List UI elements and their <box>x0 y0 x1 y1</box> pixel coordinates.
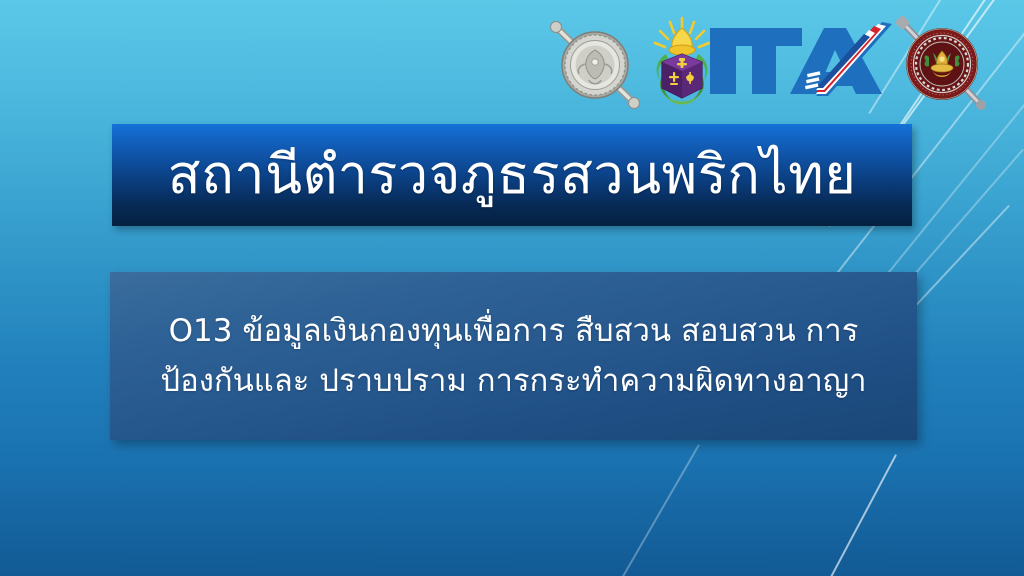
subtitle-line-2: ป้องกันและ ปราบปราม การกระทำความผิดทางอา… <box>160 356 866 406</box>
emblem-row <box>0 0 1024 124</box>
page-title: สถานีตำรวจภูธรสวนพริกไทย <box>168 147 857 204</box>
slide-title-plate: สถานีตำรวจภูธรสวนพริกไทย <box>112 124 912 226</box>
presentation-slide: สถานีตำรวจภูธรสวนพริกไทย O13 ข้อมูลเงินก… <box>0 0 1024 576</box>
streak-line <box>825 454 897 576</box>
subtitle-line-1: O13 ข้อมูลเงินกองทุนเพื่อการ สืบสวน สอบส… <box>169 306 859 356</box>
silver-royal-decoration-emblem <box>541 12 649 116</box>
provincial-police-seal-emblem <box>893 13 991 117</box>
streak-line <box>619 444 700 576</box>
slide-subtitle-plate: O13 ข้อมูลเงินกองทุนเพื่อการ สืบสวน สอบส… <box>110 272 917 440</box>
ita-logo <box>706 22 896 108</box>
